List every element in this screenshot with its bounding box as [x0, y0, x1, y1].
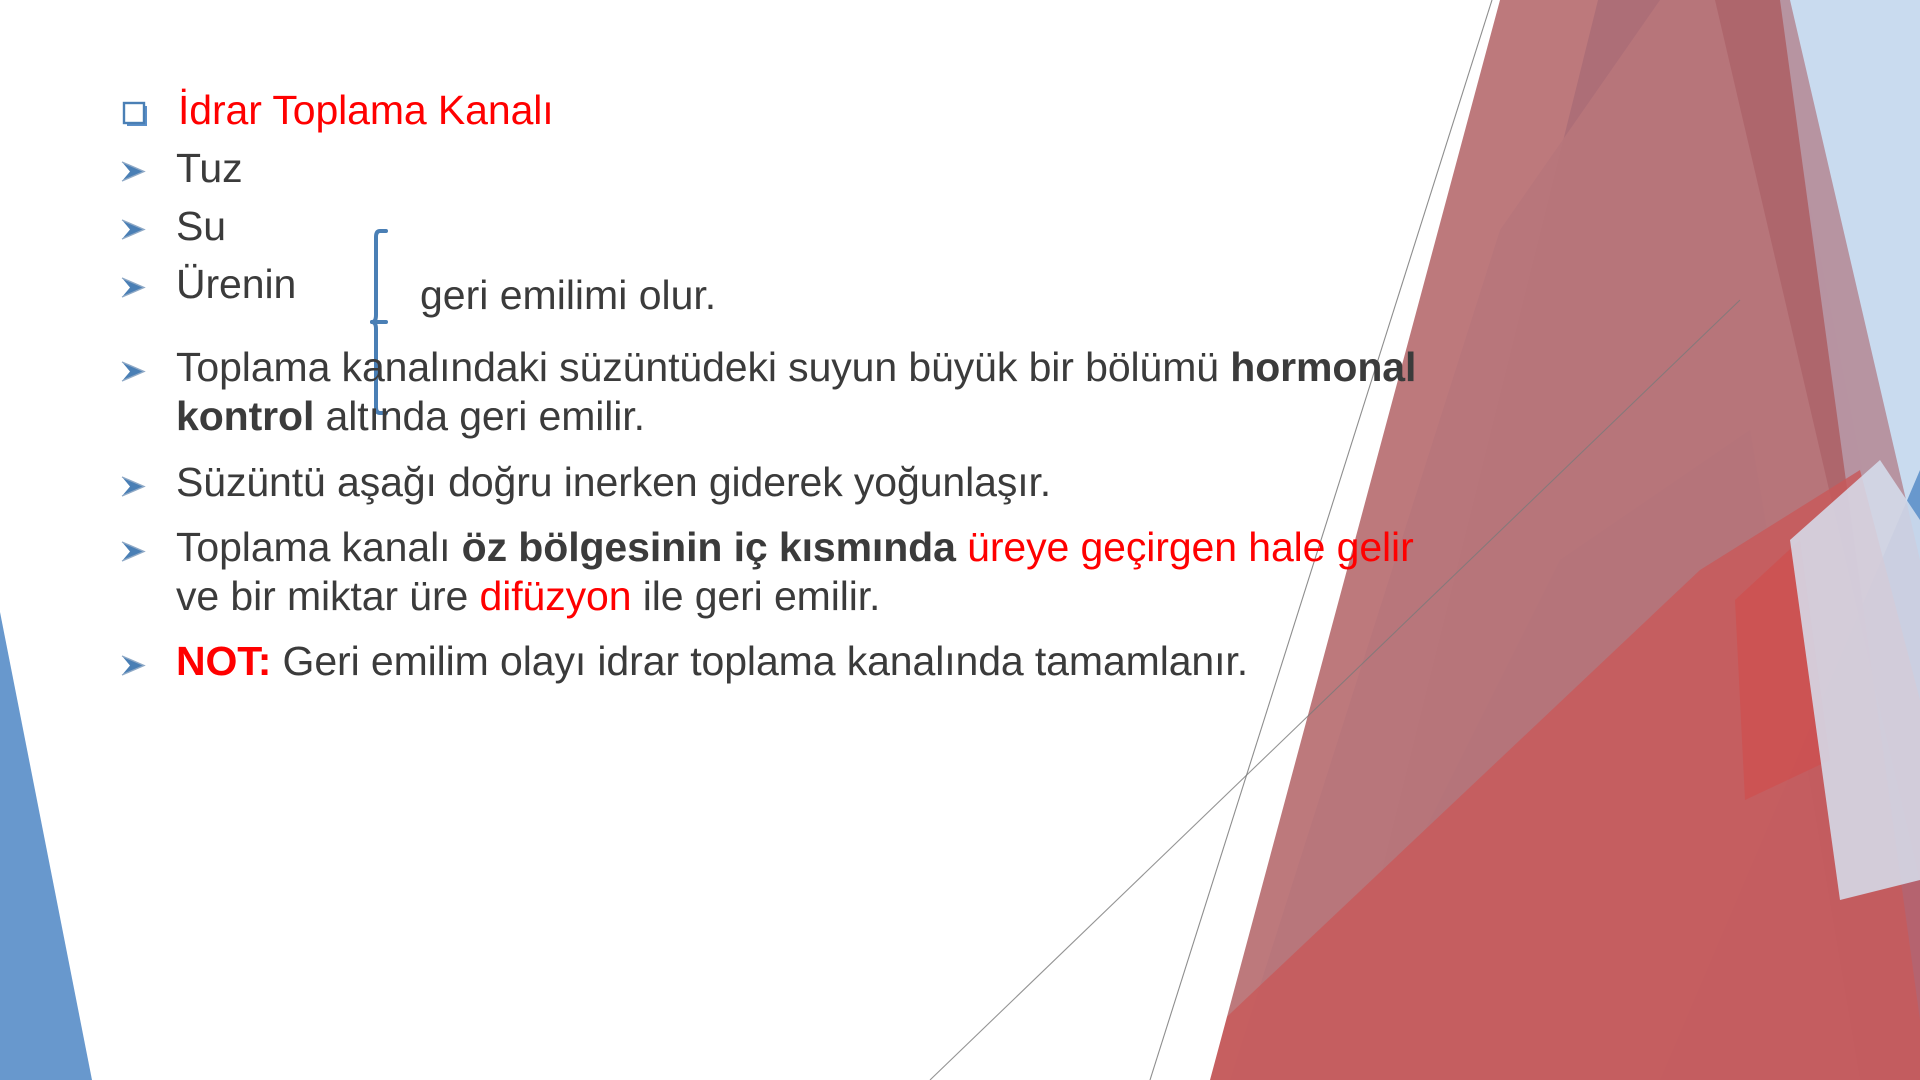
decor-grey-blue-sliver — [1790, 460, 1920, 900]
arrow-bullet-icon — [118, 458, 176, 500]
slide-canvas: İdrar Toplama Kanalı Tuz — [0, 0, 1920, 1080]
run-red: difüzyon — [480, 573, 632, 619]
list-item: Tuz — [118, 143, 1438, 193]
run-red-bold: NOT: — [176, 638, 271, 684]
arrow-bullet-icon — [118, 259, 176, 301]
run-normal: Toplama kanalı — [176, 524, 462, 570]
decor-red-highlight-triangle — [1735, 540, 1830, 800]
list-item-label: Su — [176, 201, 1438, 251]
run-normal: altında geri emilir. — [314, 393, 645, 439]
grouped-items-block: Tuz Su Ürenin — [118, 143, 1438, 309]
list-item-label: Tuz — [176, 143, 1438, 193]
run-space — [956, 524, 967, 570]
paragraph-text: Süzüntü aşağı doğru inerken giderek yoğu… — [176, 458, 1438, 507]
arrow-bullet-icon — [118, 523, 176, 565]
run-normal: Süzüntü aşağı doğru inerken giderek yoğu… — [176, 459, 1051, 505]
run-normal: Toplama kanalındaki süzüntüdeki suyun bü… — [176, 344, 1230, 390]
heading-line: İdrar Toplama Kanalı — [118, 86, 1438, 135]
run-normal: ile geri emilir. — [631, 573, 880, 619]
list-item: Ürenin — [118, 259, 1438, 309]
brace-label-text: geri emilimi olur. — [420, 271, 716, 320]
decor-blue-wedge-left — [0, 612, 92, 1080]
decor-red-band-overlap — [1715, 0, 1920, 880]
arrow-bullet-icon — [118, 143, 176, 185]
paragraph-row: Toplama kanalındaki süzüntüdeki suyun bü… — [118, 343, 1438, 441]
paragraph-row: Süzüntü aşağı doğru inerken giderek yoğu… — [118, 458, 1438, 507]
square-bullet-icon — [118, 86, 178, 130]
list-item: Su — [118, 201, 1438, 251]
paragraph-text: Toplama kanalındaki süzüntüdeki suyun bü… — [176, 343, 1438, 441]
decor-blue-field-right — [1420, 0, 1920, 1080]
paragraph-text: NOT: Geri emilim olayı idrar toplama kan… — [176, 637, 1438, 686]
run-normal: Geri emilim olayı idrar toplama kanalınd… — [271, 638, 1248, 684]
paragraph-text: Toplama kanalı öz bölgesinin iç kısmında… — [176, 523, 1438, 621]
arrow-bullet-icon — [118, 637, 176, 679]
run-bold: öz bölgesinin iç kısmında — [462, 524, 956, 570]
slide-body-content: İdrar Toplama Kanalı Tuz — [118, 86, 1438, 702]
arrow-bullet-icon — [118, 343, 176, 385]
paragraph-row: NOT: Geri emilim olayı idrar toplama kan… — [118, 637, 1438, 686]
list-item-label: Ürenin — [176, 259, 1438, 309]
run-normal: ve bir miktar üre — [176, 573, 480, 619]
run-red: üreye geçirgen hale gelir — [967, 524, 1414, 570]
heading-text: İdrar Toplama Kanalı — [178, 86, 1438, 135]
arrow-bullet-icon — [118, 201, 176, 243]
paragraph-row: Toplama kanalı öz bölgesinin iç kısmında… — [118, 523, 1438, 621]
